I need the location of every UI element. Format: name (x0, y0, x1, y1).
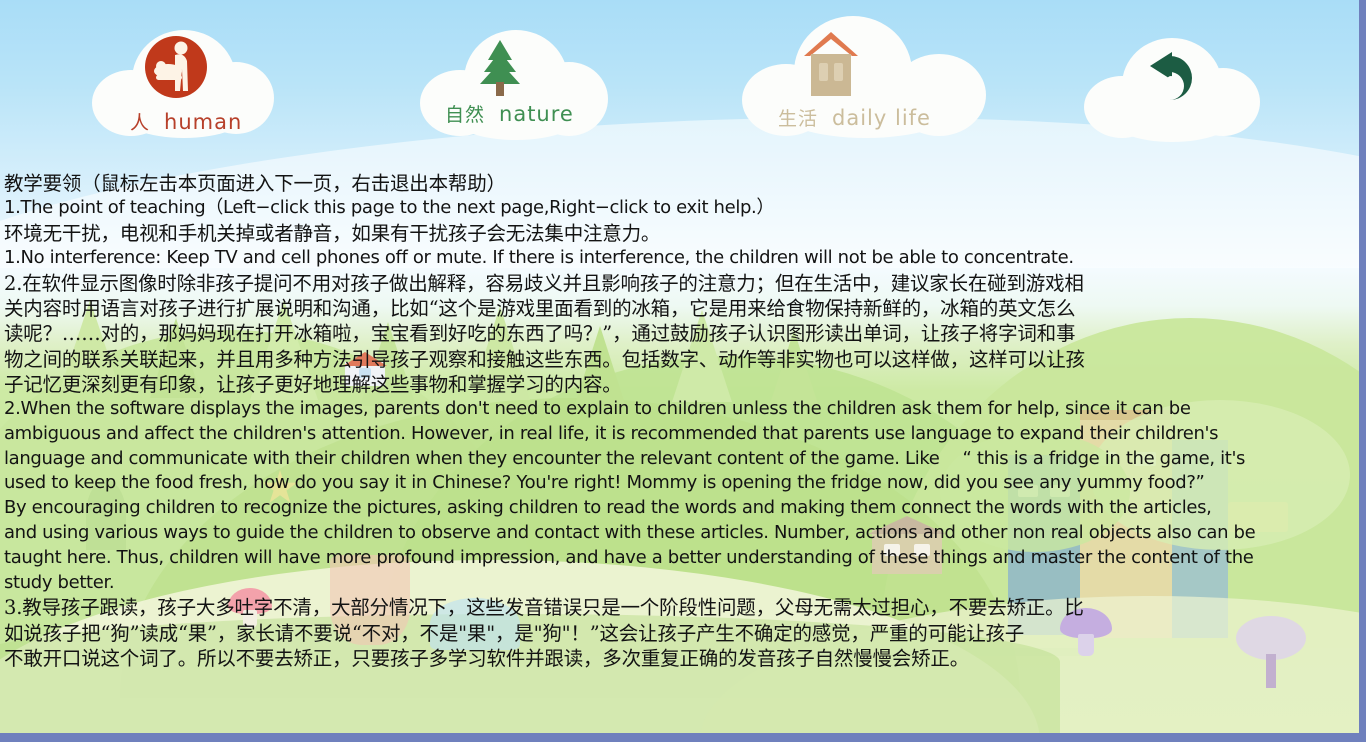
category-cn-human: 人 (130, 112, 150, 134)
category-label-human: 人human (130, 108, 242, 135)
text-line: 不敢开口说这个词了。所以不要去矫正，只要孩子多学习软件并跟读，多次重复正确的发音… (4, 646, 1355, 671)
category-cn-daily-life: 生活 (778, 108, 818, 130)
help-page-root[interactable]: 人human 自然nature 生活daily life (0, 0, 1366, 742)
text-line: taught here. Thus, children will have mo… (4, 546, 1355, 571)
text-line: language and communicate with their chil… (4, 447, 1355, 472)
text-line: 子记忆更深刻更有印象，让孩子更好地理解这些事物和掌握学习的内容。 (4, 372, 1355, 397)
text-line: 如说孩子把“狗”读成“果”，家长请不要说“不对，不是"果"，是"狗"！”这会让孩… (4, 621, 1355, 646)
category-en-human: human (164, 110, 242, 134)
category-label-nature: 自然nature (445, 100, 574, 127)
parent-and-baby-icon[interactable] (144, 35, 208, 99)
text-line: and using various ways to guide the chil… (4, 521, 1355, 546)
text-line: 2.在软件显示图像时除非孩子提问不用对孩子做出解释，容易歧义并且影响孩子的注意力… (4, 271, 1355, 296)
text-line: study better. (4, 571, 1355, 596)
text-line: 2.When the software displays the images,… (4, 397, 1355, 422)
help-text-body: 教学要领（鼠标左击本页面进入下一页，右击退出本帮助） 1.The point o… (0, 171, 1359, 671)
text-line: used to keep the food fresh, how do you … (4, 471, 1355, 496)
text-line: 3.教导孩子跟读，孩子大多吐字不清，大部分情况下，这些发音错误只是一个阶段性问题… (4, 595, 1355, 620)
category-en-daily-life: daily life (832, 106, 931, 130)
category-label-daily-life: 生活daily life (778, 104, 931, 131)
text-line: 读呢？……对的，那妈妈现在打开冰箱啦，宝宝看到好吃的东西了吗？”，通过鼓励孩子认… (4, 321, 1355, 346)
category-en-nature: nature (499, 102, 574, 126)
house-icon[interactable] (800, 30, 862, 96)
text-line: 1.The point of teaching（Left−click this … (4, 196, 1355, 221)
text-line: 1.No interference: Keep TV and cell phon… (4, 246, 1355, 271)
category-cn-nature: 自然 (445, 104, 485, 126)
text-line: 关内容时用语言对孩子进行扩展说明和沟通，比如“这个是游戏里面看到的冰箱，它是用来… (4, 296, 1355, 321)
text-line: 物之间的联系关联起来，并且用多种方法引导孩子观察和接触这些东西。包括数字、动作等… (4, 347, 1355, 372)
text-line: By encouraging children to recognize the… (4, 496, 1355, 521)
text-line: ambiguous and affect the children's atte… (4, 422, 1355, 447)
text-line: 环境无干扰，电视和手机关掉或者静音，如果有干扰孩子会无法集中注意力。 (4, 221, 1355, 246)
pine-tree-icon[interactable] (472, 38, 528, 98)
text-line: 教学要领（鼠标左击本页面进入下一页，右击退出本帮助） (4, 171, 1355, 196)
back-arrow-icon[interactable] (1140, 50, 1198, 106)
